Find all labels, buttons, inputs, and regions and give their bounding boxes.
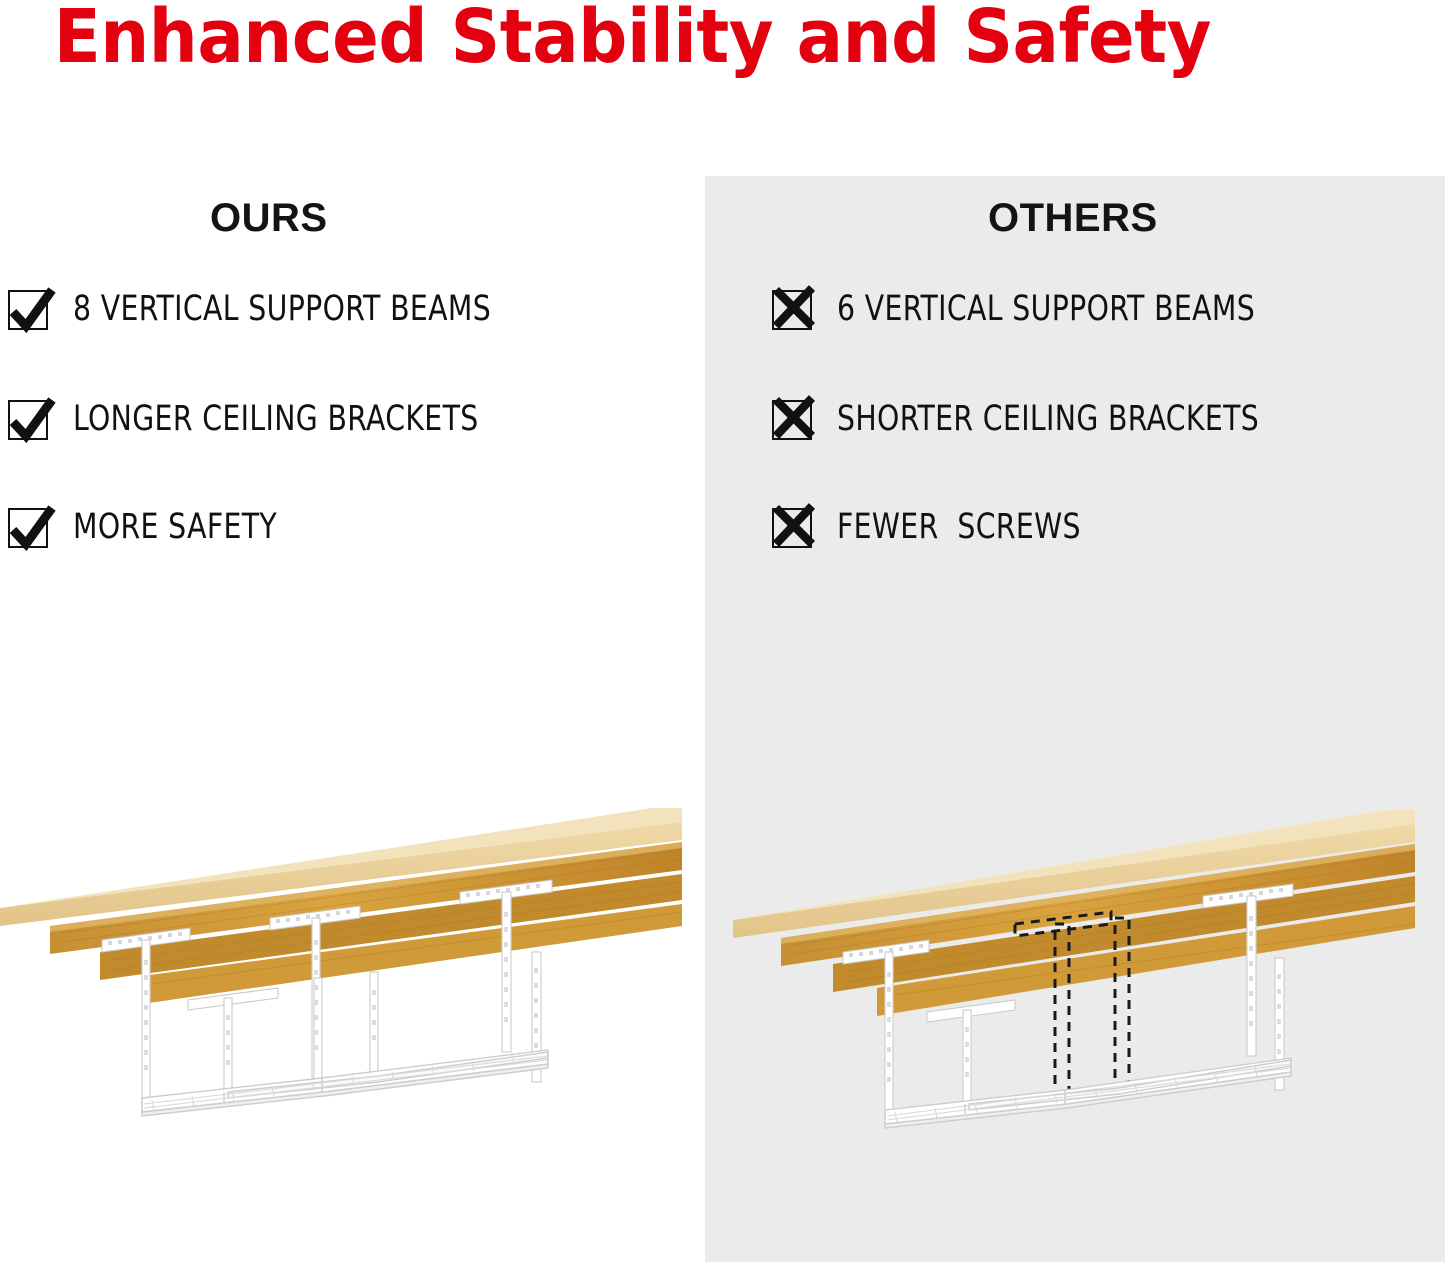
feature-row: 6 VERTICAL SUPPORT BEAMS [772, 279, 1302, 339]
checkmark-icon [8, 504, 55, 551]
feature-row: FEWER SCREWS [772, 497, 1108, 557]
feature-label: LONGER CEILING BRACKETS [73, 399, 479, 439]
product-image-ours [0, 800, 692, 1130]
feature-row: LONGER CEILING BRACKETS [8, 389, 524, 449]
cross-icon [772, 504, 819, 551]
column-heading-others: OTHERS [988, 196, 1158, 241]
checkmark-icon [8, 286, 55, 333]
column-heading-ours: OURS [210, 196, 328, 241]
feature-label: 8 VERTICAL SUPPORT BEAMS [73, 289, 491, 329]
feature-label: MORE SAFETY [73, 507, 277, 547]
feature-label: 6 VERTICAL SUPPORT BEAMS [837, 289, 1255, 329]
page-title: Enhanced Stability and Safety [0, 0, 1265, 80]
cross-icon [772, 286, 819, 333]
feature-label: SHORTER CEILING BRACKETS [837, 399, 1259, 439]
product-image-others [715, 800, 1445, 1130]
feature-row: MORE SAFETY [8, 497, 300, 557]
infographic-page: Enhanced Stability and Safety OURS OTHER… [0, 0, 1445, 1262]
feature-row: SHORTER CEILING BRACKETS [772, 389, 1306, 449]
cross-icon [772, 396, 819, 443]
checkmark-icon [8, 396, 55, 443]
feature-row: 8 VERTICAL SUPPORT BEAMS [8, 279, 538, 339]
feature-label: FEWER SCREWS [837, 507, 1081, 547]
